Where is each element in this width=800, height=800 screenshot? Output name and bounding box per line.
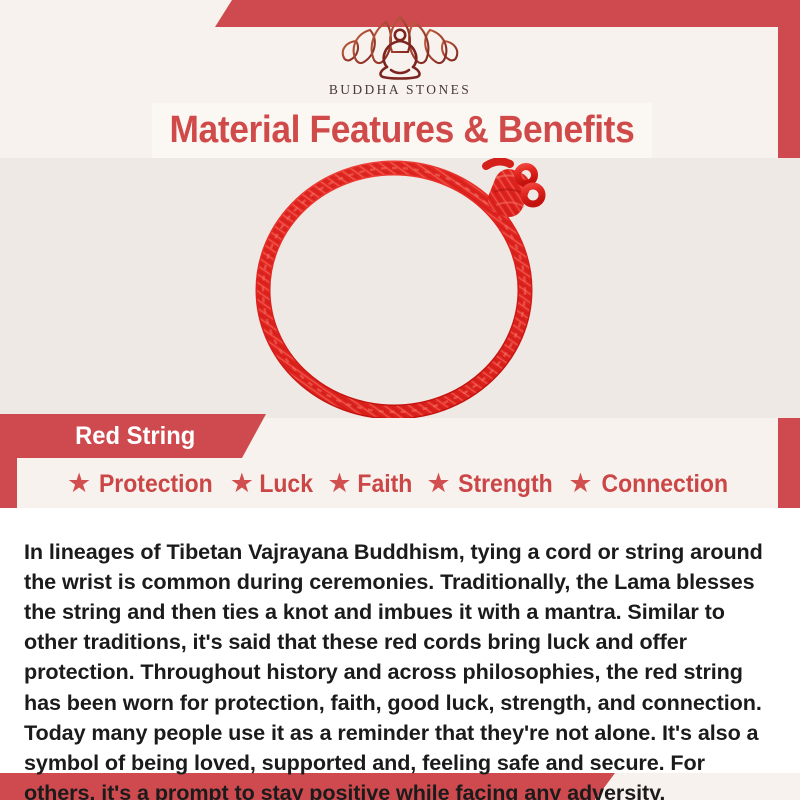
benefit-label: Protection (99, 470, 213, 499)
title-band: Material Features & Benefits (152, 103, 652, 158)
star-icon: ★ (568, 470, 592, 497)
benefit-label: Luck (259, 470, 313, 499)
benefit-item: ★ Luck (226, 470, 320, 499)
benefits-list: ★ Protection ★ Luck ★ Faith ★ Strength ★… (0, 462, 800, 506)
hero-image-area (0, 158, 800, 418)
star-icon: ★ (327, 470, 351, 497)
description-panel: In lineages of Tibetan Vajrayana Buddhis… (0, 508, 800, 773)
star-icon: ★ (230, 470, 254, 497)
benefit-label: Faith (357, 470, 412, 499)
lotus-meditation-icon (334, 14, 466, 80)
benefit-item: ★ Strength (422, 470, 560, 499)
description-text: In lineages of Tibetan Vajrayana Buddhis… (24, 537, 776, 800)
brand-header: BUDDHA STONES (0, 0, 800, 104)
red-braided-cord-bracelet (230, 158, 570, 418)
material-name: Red String (75, 422, 195, 451)
infographic-page: BUDDHA STONES Material Features & Benefi… (0, 0, 800, 800)
page-title: Material Features & Benefits (170, 109, 635, 152)
benefit-item: ★ Connection (564, 470, 737, 499)
brand-name: BUDDHA STONES (329, 82, 471, 98)
benefit-label: Strength (458, 470, 553, 499)
benefit-item: ★ Faith (323, 470, 418, 499)
benefit-item: ★ Protection (63, 470, 222, 499)
star-icon: ★ (67, 470, 91, 497)
material-name-ribbon: Red String (0, 414, 266, 458)
benefit-label: Connection (601, 470, 728, 499)
star-icon: ★ (426, 470, 450, 497)
